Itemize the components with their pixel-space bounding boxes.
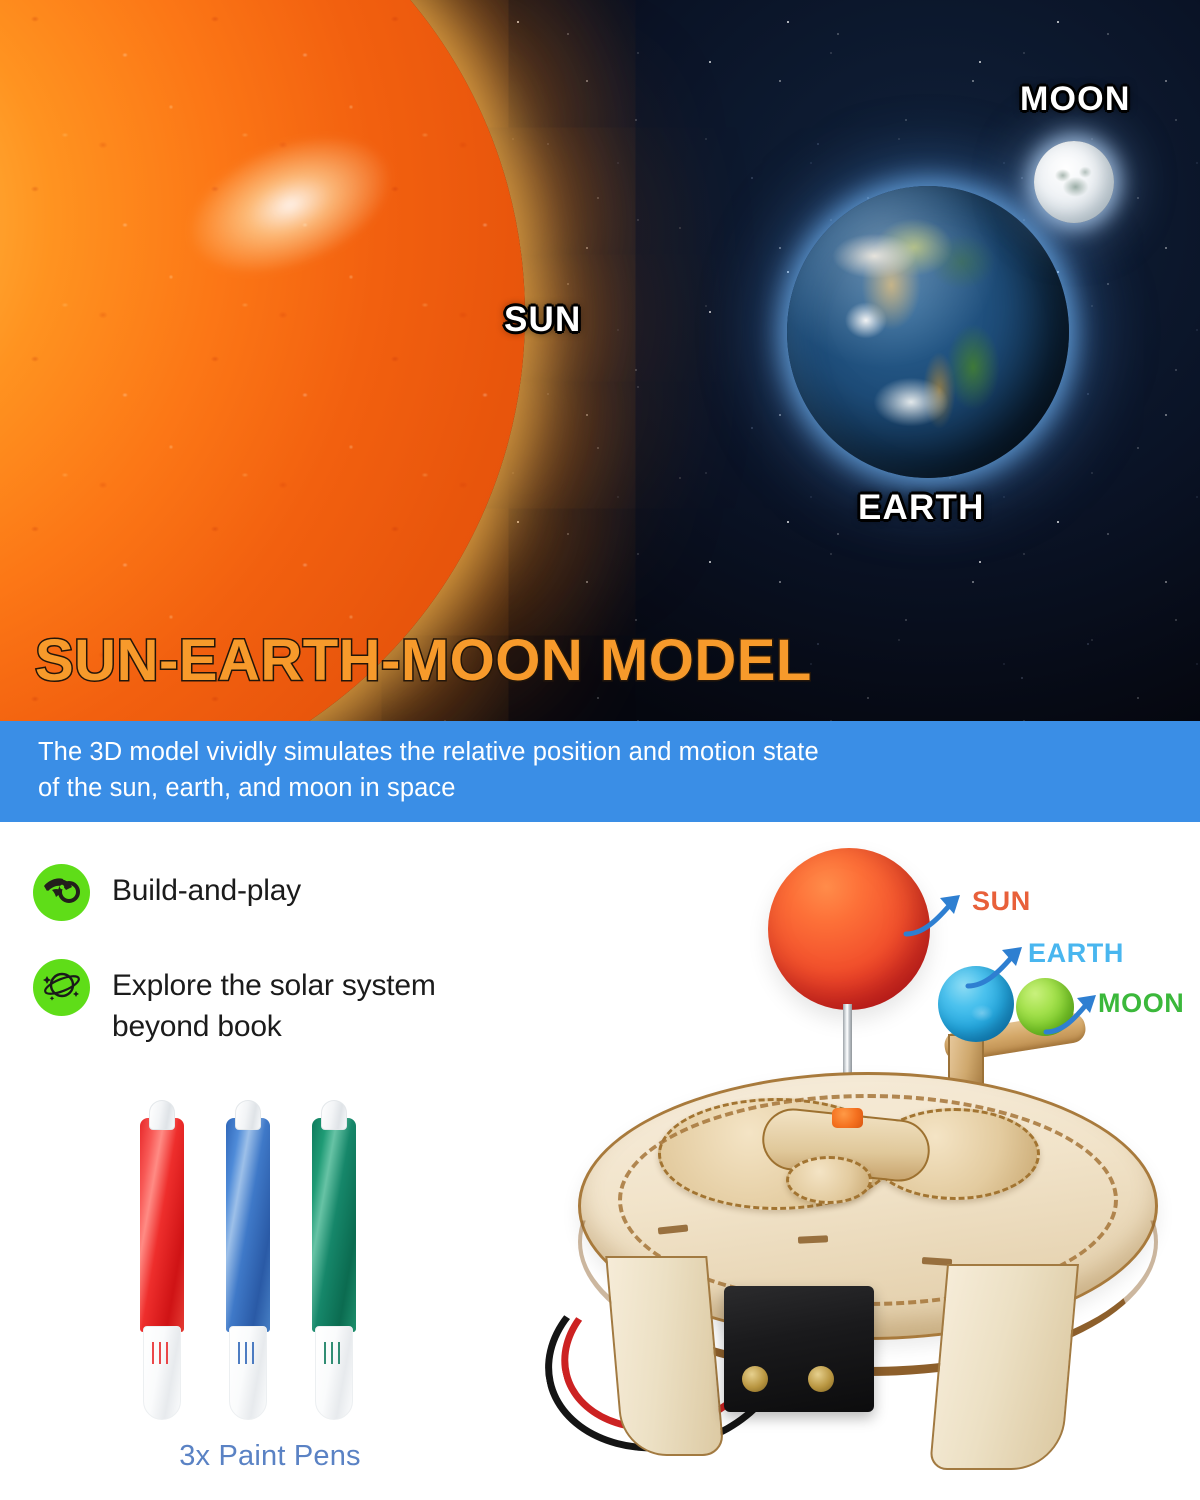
feature-badge — [33, 959, 90, 1016]
earth-atmosphere-rim — [787, 186, 1069, 478]
moon-sphere-icon — [1034, 141, 1114, 223]
pen-barrel — [312, 1118, 356, 1332]
pen-vents — [238, 1342, 258, 1364]
product-photo: SUN EARTH MOON — [540, 826, 1200, 1500]
hero-label-sun: SUN — [504, 300, 582, 340]
description-banner: The 3D model vividly simulates the relat… — [0, 721, 1200, 822]
feature-item-build-and-play: Build-and-play — [33, 864, 301, 921]
pen-cap — [149, 1100, 175, 1130]
planet-ring-icon — [42, 967, 82, 1008]
pen-base — [229, 1326, 267, 1420]
hand-assembling-icon — [43, 873, 81, 912]
hero-space-scene: SUN EARTH MOON SUN-EARTH-MOON MODEL — [0, 0, 1200, 721]
turntable-leg — [605, 1256, 724, 1456]
callout-label-sun: SUN — [972, 886, 1031, 917]
pen-vents — [324, 1342, 344, 1364]
feature-list: Build-and-play Explore the solar system … — [0, 822, 620, 1082]
pen-base — [143, 1326, 181, 1420]
pen-cap — [321, 1100, 347, 1130]
pen-barrel — [140, 1118, 184, 1332]
feature-badge — [33, 864, 90, 921]
page-title: SUN-EARTH-MOON MODEL — [35, 627, 812, 694]
hero-label-earth: EARTH — [858, 488, 985, 528]
feature-label: Build-and-play — [112, 864, 301, 911]
paint-pen-red — [140, 1100, 184, 1420]
hero-label-moon: MOON — [1020, 80, 1131, 119]
feature-item-explore-solar-system: Explore the solar system beyond book — [33, 959, 436, 1047]
paint-pen-green — [312, 1100, 356, 1420]
callout-label-moon: MOON — [1098, 988, 1184, 1019]
battery-screw — [742, 1366, 768, 1392]
pen-cap — [235, 1100, 261, 1130]
battery-screw — [808, 1366, 834, 1392]
paint-pen-blue — [226, 1100, 270, 1420]
callout-label-earth: EARTH — [1028, 938, 1124, 969]
pen-barrel — [226, 1118, 270, 1332]
paint-pens-caption: 3x Paint Pens — [120, 1440, 420, 1473]
banner-line-1: The 3D model vividly simulates the relat… — [38, 734, 1162, 770]
turntable-leg — [929, 1264, 1079, 1470]
battery-pack — [724, 1286, 874, 1412]
callout-arrow-earth-icon — [960, 936, 1038, 997]
paint-pens-group: 3x Paint Pens — [120, 1100, 420, 1500]
banner-line-2: of the sun, earth, and moon in space — [38, 770, 1162, 806]
feature-label: Explore the solar system beyond book — [112, 959, 436, 1047]
pen-base — [315, 1326, 353, 1420]
pen-vents — [152, 1342, 172, 1364]
